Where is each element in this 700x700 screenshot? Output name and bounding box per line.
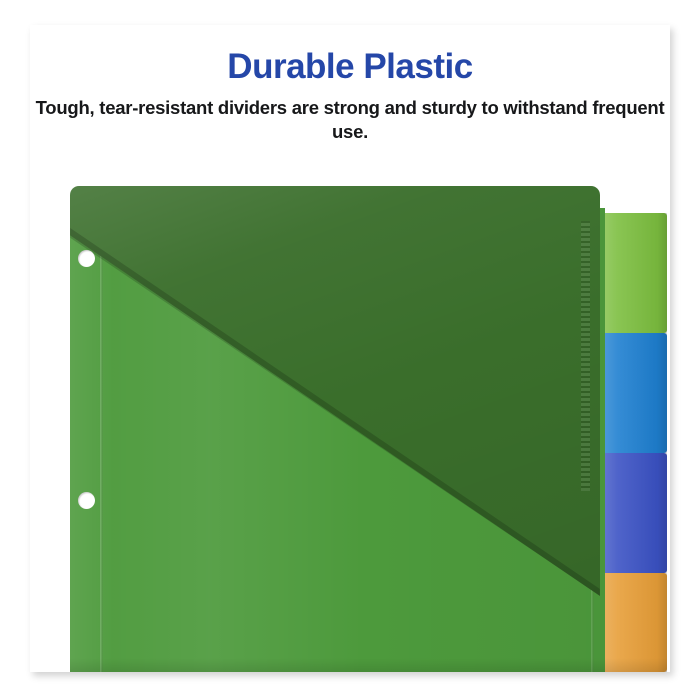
punch-hole-top <box>78 250 95 267</box>
page-title: Durable Plastic <box>30 25 670 86</box>
punch-hole-bottom <box>78 492 95 509</box>
binding-fold-crease <box>100 208 103 672</box>
page-subtitle: Tough, tear-resistant dividers are stron… <box>30 86 670 145</box>
product-image-card: Durable Plastic Tough, tear-resistant di… <box>30 25 670 672</box>
marketing-copy: Durable Plastic Tough, tear-resistant di… <box>30 25 670 145</box>
pocket-rib-texture <box>581 221 590 491</box>
